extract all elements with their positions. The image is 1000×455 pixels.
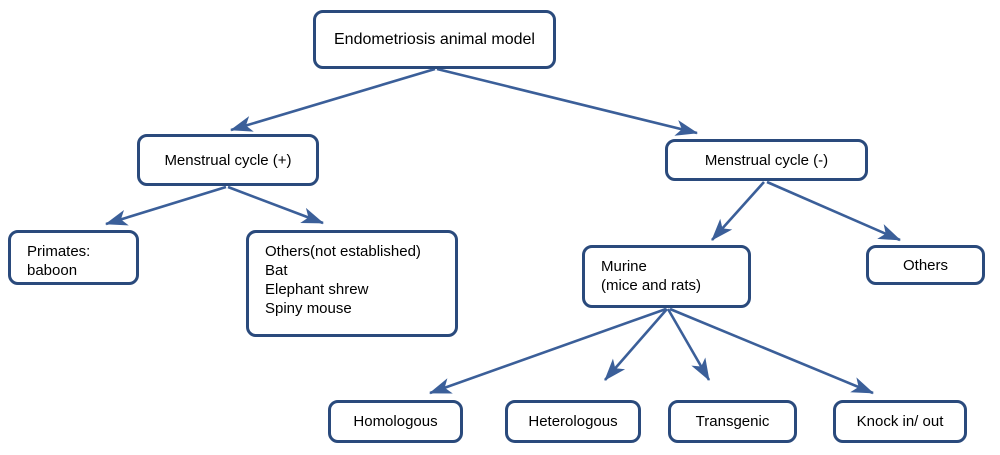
node-menstrual-cycle-positive-label: Menstrual cycle (+) xyxy=(140,151,316,170)
node-homologous-label: Homologous xyxy=(331,412,460,431)
node-transgenic-label: Transgenic xyxy=(671,412,794,431)
edge-mc-pos-to-others-ne xyxy=(228,187,323,223)
node-menstrual-cycle-negative-label: Menstrual cycle (-) xyxy=(668,151,865,170)
edge-murine-to-homologous xyxy=(430,309,666,393)
node-transgenic[interactable]: Transgenic xyxy=(668,400,797,443)
edge-murine-to-knock-in-out xyxy=(670,309,873,393)
node-root[interactable]: Endometriosis animal model xyxy=(313,10,556,69)
node-primates-label: Primates: baboon xyxy=(11,242,90,280)
node-menstrual-cycle-positive[interactable]: Menstrual cycle (+) xyxy=(137,134,319,186)
node-murine[interactable]: Murine (mice and rats) xyxy=(582,245,751,308)
node-others-not-established[interactable]: Others(not established) Bat Elephant shr… xyxy=(246,230,458,337)
node-murine-label: Murine (mice and rats) xyxy=(585,257,701,295)
edge-murine-to-transgenic xyxy=(668,309,709,380)
edge-murine-to-heterologous xyxy=(605,309,667,380)
edge-mc-pos-to-primates xyxy=(106,187,226,224)
node-primates[interactable]: Primates: baboon xyxy=(8,230,139,285)
node-others-label: Others xyxy=(869,256,982,275)
edge-mc-neg-to-others xyxy=(767,182,900,240)
node-root-label: Endometriosis animal model xyxy=(316,30,553,49)
node-others-not-established-label: Others(not established) Bat Elephant shr… xyxy=(249,242,421,318)
node-heterologous-label: Heterologous xyxy=(508,412,638,431)
edge-root-to-mc-pos xyxy=(231,69,435,130)
edge-root-to-mc-neg xyxy=(437,69,697,133)
node-menstrual-cycle-negative[interactable]: Menstrual cycle (-) xyxy=(665,139,868,181)
edge-mc-neg-to-murine xyxy=(712,182,764,240)
node-knock-in-out[interactable]: Knock in/ out xyxy=(833,400,967,443)
flowchart-canvas: Endometriosis animal model Menstrual cyc… xyxy=(0,0,1000,455)
node-knock-in-out-label: Knock in/ out xyxy=(836,412,964,431)
node-others[interactable]: Others xyxy=(866,245,985,285)
node-homologous[interactable]: Homologous xyxy=(328,400,463,443)
node-heterologous[interactable]: Heterologous xyxy=(505,400,641,443)
